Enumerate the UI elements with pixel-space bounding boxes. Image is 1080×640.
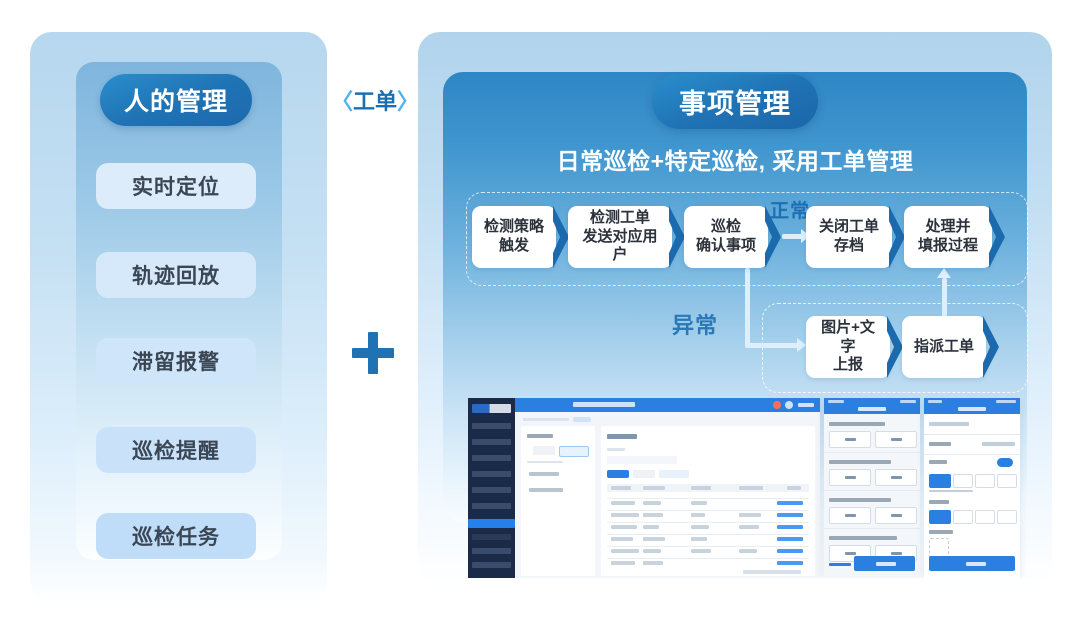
arrow-up-return-icon [937,268,951,278]
console-filter-tab[interactable] [533,446,555,455]
connector-work-order-label: 〈工单〉 [325,80,425,120]
mobile-option-chip[interactable] [997,474,1017,488]
mobile-report-form-screenshot [924,398,1020,578]
mobile-appbar-title [858,407,886,411]
left-item-label: 轨迹回放 [132,260,220,290]
console-menu-item[interactable] [472,503,511,509]
console-table-cell [611,537,633,541]
console-sidebar [468,398,515,578]
flow-step-label: 检测工单 发送对应用户 [568,209,672,265]
console-table-cell [643,537,665,541]
mobile-answer-normal-button[interactable] [829,431,871,448]
console-body [515,412,820,578]
console-row-action[interactable] [777,525,803,529]
console-submenu-item[interactable] [472,534,511,540]
left-item-label: 巡检任务 [132,521,220,551]
flow-step-process-and-report[interactable]: 处理并 填报过程 [904,206,992,268]
mobile-appbar-title [958,407,986,411]
connector-line-abnormal-vertical [745,268,750,348]
mobile-answer-normal-label [845,476,856,479]
mobile-field-label-upload-photo [929,530,953,534]
console-table-cell [691,525,709,529]
chevron-tip-icon [765,206,783,268]
console-settings-icon[interactable] [785,401,793,409]
flow-step-assign-work-order[interactable]: 指派工单 [902,316,986,378]
flow-step-line1: 检测工单 [590,209,650,226]
console-table-cell [643,501,661,505]
flow-step-label: 检测策略 触发 [476,218,552,256]
mobile-answer-abnormal-button[interactable] [875,507,917,524]
flow-step-label: 指派工单 [906,338,982,357]
console-search-label [607,448,625,451]
flow-step-inspection-confirm[interactable]: 巡检 确认事项 [684,206,768,268]
mobile-question-label [829,422,885,426]
mobile-level-chip[interactable] [975,510,995,524]
mobile-checklist-screenshot [824,398,920,578]
console-table-title [607,434,637,439]
console-table-cell [643,561,663,565]
console-table-cell [611,561,635,565]
mobile-appbar [924,398,1020,414]
console-search-input[interactable] [607,456,677,464]
mobile-upload-photo-button[interactable] [929,538,949,558]
left-item-track-playback[interactable]: 轨迹回放 [96,252,256,298]
console-logo [472,404,511,413]
left-item-realtime-location[interactable]: 实时定位 [96,163,256,209]
left-item-label: 滞留报警 [132,346,220,376]
mobile-status-time [828,400,844,403]
console-menu-item[interactable] [472,471,511,477]
console-table-header-cell [691,486,711,490]
mobile-question-label [829,536,897,540]
flow-step-line2: 上报 [833,356,863,373]
mobile-question-label [829,460,891,464]
chevron-tip-icon [983,316,1001,378]
left-item-inspection-reminder[interactable]: 巡检提醒 [96,427,256,473]
flow-step-line1: 图片+文字 [821,319,875,355]
mobile-question-label [829,498,891,502]
flow-step-line2: 确认事项 [696,237,756,254]
flow-step-label: 巡检 确认事项 [688,218,764,256]
console-table-cell [739,549,757,553]
console-table-cell [643,549,661,553]
flow-step-line2: 存档 [834,237,864,254]
mobile-submit-label [876,562,896,566]
console-row-action[interactable] [777,537,803,541]
console-table-divider [607,498,809,499]
flow-step-label: 图片+文字 上报 [806,319,890,375]
console-menu-item-active[interactable] [468,519,515,528]
console-table-header-cell [611,486,631,490]
console-table-divider [607,558,809,559]
console-table-cell [739,513,761,517]
console-menu-item[interactable] [472,548,511,554]
left-panel-title: 人的管理 [100,74,252,126]
console-tree-node[interactable] [529,488,563,492]
console-row-action[interactable] [777,501,803,505]
mobile-option-chip[interactable] [975,474,995,488]
mobile-divider [924,434,1020,435]
connector-line-return-vertical [942,278,947,320]
left-item-stay-alarm[interactable]: 滞留报警 [96,338,256,384]
console-menu-item[interactable] [472,562,511,568]
console-table-header-cell [787,486,801,490]
mobile-submit-label [966,562,986,566]
left-item-label: 巡检提醒 [132,435,220,465]
mobile-option-hint [929,490,973,492]
mobile-form-placeholder [929,422,969,426]
mobile-answer-abnormal-label [891,514,902,517]
flow-step-line2: 触发 [499,237,529,254]
console-menu-item[interactable] [472,455,511,461]
console-topbar-title [573,402,635,407]
console-table-cell [739,525,759,529]
console-filter-tab-active[interactable] [559,446,589,457]
mobile-field-label-reporter [929,442,951,446]
connector-label-text: 工单 [353,84,397,116]
console-table-cell [643,513,663,517]
console-reset-button[interactable] [633,470,655,478]
right-panel-title: 事项管理 [652,74,818,129]
console-filter-hint [527,461,563,463]
mobile-divider [824,452,920,453]
mobile-divider [824,490,920,491]
mobile-level-chip[interactable] [997,510,1017,524]
mobile-answer-abnormal-label [891,552,902,555]
console-table-cell [691,513,705,517]
connector-line-abnormal-horizontal [745,343,801,348]
mobile-answer-abnormal-label [891,438,902,441]
console-tree-node[interactable] [529,472,559,476]
flow-step-line1: 关闭工单 [819,218,879,235]
console-row-action[interactable] [777,561,803,565]
mobile-answer-normal-label [845,438,856,441]
mobile-answer-normal-button[interactable] [829,507,871,524]
mobile-toggle-switch[interactable] [997,458,1013,467]
flow-step-line2: 填报过程 [918,237,978,254]
flow-step-close-work-order[interactable]: 关闭工单 存档 [806,206,892,268]
mobile-field-value-reporter[interactable] [982,442,1015,446]
console-row-action[interactable] [777,549,803,553]
console-menu-item[interactable] [472,439,511,445]
console-export-button[interactable] [659,470,689,478]
mobile-answer-normal-button[interactable] [829,469,871,486]
left-item-inspection-task[interactable]: 巡检任务 [96,513,256,559]
console-notification-icon[interactable] [773,401,781,409]
mobile-appbar [824,398,920,414]
right-panel-title-label: 事项管理 [679,82,791,121]
mobile-answer-normal-label [845,552,856,555]
mobile-progress-label [829,563,851,566]
console-pagination[interactable] [743,570,801,574]
console-table-cell [611,549,639,553]
left-panel-inner-card [76,62,282,560]
console-table-cell [643,525,659,529]
console-row-action[interactable] [777,513,803,517]
console-breadcrumb-current [573,417,591,422]
console-topbar [515,398,820,412]
mobile-field-label-toggle [929,460,947,464]
mobile-status-time [928,400,942,403]
left-item-label: 实时定位 [132,171,220,201]
console-breadcrumb [523,418,569,421]
flow-step-photo-text-report[interactable]: 图片+文字 上报 [806,316,890,378]
console-table-divider [607,534,809,535]
console-filter-title [527,434,553,438]
console-table-cell [611,513,639,517]
mobile-level-chip-selected[interactable] [929,510,951,524]
bracket-right-icon: 〉 [397,84,419,116]
chevron-tip-icon [989,206,1007,268]
console-table-cell [691,501,707,505]
desktop-console-screenshot [468,398,820,578]
flow-step-send-work-order[interactable]: 检测工单 发送对应用户 [568,206,672,268]
flow-step-label: 处理并 填报过程 [910,218,986,256]
flow-step-line1: 指派工单 [914,338,974,355]
flow-step-line1: 巡检 [711,218,741,235]
mobile-divider [924,454,1020,455]
mobile-status-battery [996,400,1016,403]
flow-step-label: 关闭工单 存档 [811,218,887,256]
mobile-answer-abnormal-label [891,476,902,479]
mobile-answer-normal-label [845,514,856,517]
arrow-right-abnormal-icon [797,338,806,352]
console-table-cell [691,537,707,541]
console-table-cell [611,525,637,529]
console-query-button[interactable] [607,470,629,478]
mobile-level-chip[interactable] [953,510,973,524]
poster-canvas: 人的管理 实时定位 轨迹回放 滞留报警 巡检提醒 巡检任务 〈工单〉 事项管理 … [0,0,1080,640]
console-user-label[interactable] [798,403,814,407]
console-table-divider [607,546,809,547]
console-table-cell [611,501,635,505]
console-menu-item[interactable] [472,487,511,493]
mobile-answer-abnormal-button[interactable] [875,469,917,486]
bracket-left-icon: 〈 [331,84,353,116]
flow-step-detect-policy-trigger[interactable]: 检测策略 触发 [472,206,556,268]
console-table-divider [607,522,809,523]
product-screenshot-group [468,398,1026,578]
mobile-status-battery [900,400,916,403]
right-panel-subtitle: 日常巡检+特定巡检, 采用工单管理 [443,142,1027,176]
flow-step-line1: 检测策略 [484,218,544,235]
console-table-cell [691,549,711,553]
mobile-answer-abnormal-button[interactable] [875,431,917,448]
mobile-option-chip[interactable] [953,474,973,488]
console-table-header-cell [643,486,665,490]
console-table-divider [607,510,809,511]
flow-step-line1: 处理并 [925,218,970,235]
mobile-field-label-level [929,500,949,504]
left-panel-title-label: 人的管理 [124,82,228,118]
mobile-option-chip-selected[interactable] [929,474,951,488]
mobile-divider [824,528,920,529]
console-table-header-cell [739,486,763,490]
plus-icon [350,330,398,378]
console-menu-item[interactable] [472,423,511,429]
branch-label-abnormal: 异常 [672,308,718,340]
flow-step-line2: 发送对应用户 [582,228,657,264]
